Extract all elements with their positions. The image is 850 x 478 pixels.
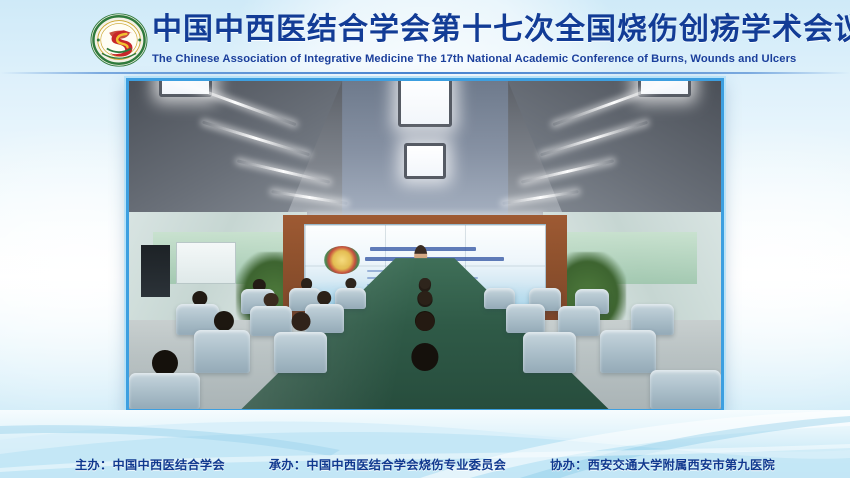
footer: 主办：中国中西医结合学会 承办：中国中西医结合学会烧伤专业委员会 协办：西安交通… (0, 450, 850, 478)
chair (650, 370, 721, 409)
chair (506, 304, 545, 333)
ceiling-light-center-1 (398, 81, 451, 127)
door-left (141, 245, 171, 297)
association-emblem-logo (88, 12, 150, 68)
conference-title-cn: 中国中西医结合学会第十七次全国烧伤创疡学术会议 (152, 10, 792, 50)
conference-title-en: The Chinese Association of Integrative M… (152, 51, 792, 67)
attendee-head (264, 293, 279, 307)
attendee-head (291, 312, 310, 331)
attendee-head (418, 291, 432, 305)
title-block: 中国中西医结合学会第十七次全国烧伤创疡学术会议 The Chinese Asso… (152, 10, 792, 67)
footer-undertaker: 承办：中国中西医结合学会烧伤专业委员会 (269, 455, 506, 473)
ceiling-light-center-2 (404, 143, 445, 179)
chair (274, 332, 327, 373)
chair (305, 304, 344, 333)
chair (600, 330, 656, 373)
screen-emblem-icon (324, 246, 360, 274)
footer-coorganizer: 协办：西安交通大学附属西安市第九医院 (550, 455, 775, 473)
conference-hall-photo (126, 78, 724, 412)
header: 中国中西医结合学会第十七次全国烧伤创疡学术会议 The Chinese Asso… (0, 0, 850, 72)
chair (523, 332, 576, 373)
attendee-head (411, 343, 438, 371)
attendee-head (416, 312, 435, 331)
chair (129, 373, 200, 409)
chair (194, 330, 250, 373)
footer-organizer: 主办：中国中西医结合学会 (75, 455, 225, 473)
window-frame-left (176, 242, 235, 285)
header-divider (0, 72, 850, 74)
slide-canvas: 中国中西医结合学会第十七次全国烧伤创疡学术会议 The Chinese Asso… (0, 0, 850, 478)
attendee-head (318, 291, 332, 305)
